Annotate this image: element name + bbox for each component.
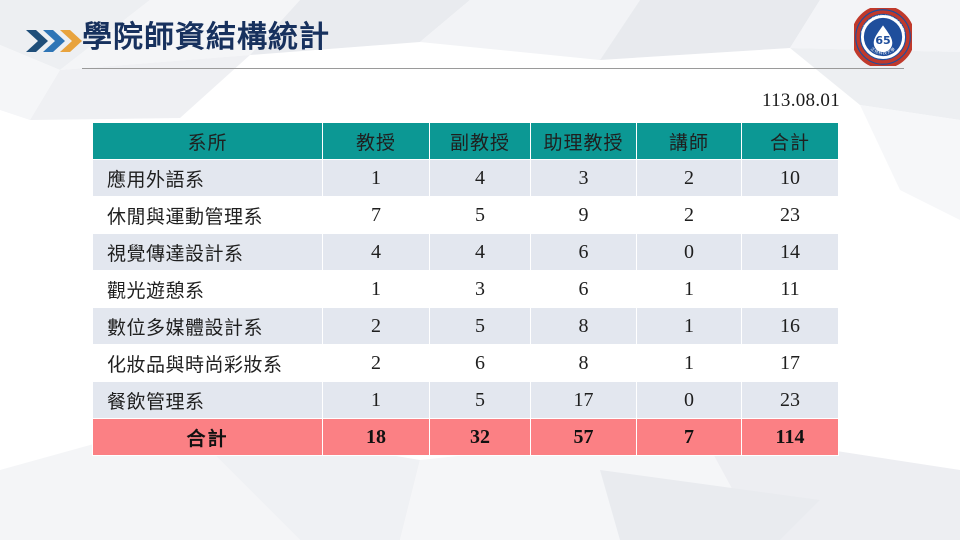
cell-lecturer: 2 (637, 197, 742, 234)
cell-professor: 2 (323, 308, 430, 345)
cell-professor: 1 (323, 382, 430, 419)
cell-total: 14 (742, 234, 839, 271)
cell-grand-total: 114 (742, 419, 839, 456)
column-header-professor: 教授 (323, 123, 430, 160)
cell-assoc-professor: 5 (430, 382, 531, 419)
cell-asst-professor: 9 (531, 197, 637, 234)
cell-total: 23 (742, 197, 839, 234)
faculty-structure-table: 系所 教授 副教授 助理教授 講師 合計 應用外語系 1 4 3 2 10 休閒… (92, 122, 839, 456)
cell-assoc-professor: 4 (430, 234, 531, 271)
cell-lecturer: 0 (637, 382, 742, 419)
cell-dept: 應用外語系 (93, 160, 323, 197)
cell-dept: 餐飲管理系 (93, 382, 323, 419)
cell-total: 23 (742, 382, 839, 419)
table-row: 化妝品與時尚彩妝系 2 6 8 1 17 (93, 345, 839, 382)
cell-total-asst: 57 (531, 419, 637, 456)
column-header-total: 合計 (742, 123, 839, 160)
table-header-row: 系所 教授 副教授 助理教授 講師 合計 (93, 123, 839, 160)
table-row: 應用外語系 1 4 3 2 10 (93, 160, 839, 197)
table-row: 休閒與運動管理系 7 5 9 2 23 (93, 197, 839, 234)
page-title: 學院師資結構統計 (82, 18, 330, 58)
cell-dept: 視覺傳達設計系 (93, 234, 323, 271)
table-row: 觀光遊憩系 1 3 6 1 11 (93, 271, 839, 308)
cell-assoc-professor: 5 (430, 308, 531, 345)
cell-dept: 休閒與運動管理系 (93, 197, 323, 234)
cell-dept: 觀光遊憩系 (93, 271, 323, 308)
triple-chevron-icon (26, 28, 82, 54)
cell-total-professor: 18 (323, 419, 430, 456)
cell-asst-professor: 3 (531, 160, 637, 197)
cell-dept: 化妝品與時尚彩妝系 (93, 345, 323, 382)
cell-assoc-professor: 6 (430, 345, 531, 382)
cell-asst-professor: 8 (531, 345, 637, 382)
cell-total-lecturer: 7 (637, 419, 742, 456)
table-total-row: 合計 18 32 57 7 114 (93, 419, 839, 456)
university-crest-logo: 65 CHENG SHIU UNIVERSITY 正修科技大學 (854, 8, 912, 66)
as-of-date: 113.08.01 (762, 90, 840, 112)
cell-lecturer: 2 (637, 160, 742, 197)
cell-assoc-professor: 4 (430, 160, 531, 197)
cell-professor: 4 (323, 234, 430, 271)
cell-lecturer: 1 (637, 345, 742, 382)
cell-asst-professor: 8 (531, 308, 637, 345)
cell-professor: 2 (323, 345, 430, 382)
faculty-structure-table-wrapper: 系所 教授 副教授 助理教授 講師 合計 應用外語系 1 4 3 2 10 休閒… (92, 122, 838, 456)
cell-asst-professor: 6 (531, 271, 637, 308)
cell-total-assoc: 32 (430, 419, 531, 456)
table-body: 應用外語系 1 4 3 2 10 休閒與運動管理系 7 5 9 2 23 視覺傳… (93, 160, 839, 456)
table-row: 餐飲管理系 1 5 17 0 23 (93, 382, 839, 419)
column-header-asst-professor: 助理教授 (531, 123, 637, 160)
cell-lecturer: 1 (637, 308, 742, 345)
cell-asst-professor: 17 (531, 382, 637, 419)
cell-assoc-professor: 5 (430, 197, 531, 234)
svg-text:65: 65 (875, 34, 890, 47)
cell-assoc-professor: 3 (430, 271, 531, 308)
column-header-dept: 系所 (93, 123, 323, 160)
slide-header: 學院師資結構統計 65 CHENG SHIU UNIVERSITY 正修科技大學 (0, 0, 960, 78)
cell-total-label: 合計 (93, 419, 323, 456)
cell-professor: 1 (323, 160, 430, 197)
cell-total: 10 (742, 160, 839, 197)
title-divider (82, 68, 904, 69)
cell-professor: 1 (323, 271, 430, 308)
cell-lecturer: 0 (637, 234, 742, 271)
column-header-assoc-professor: 副教授 (430, 123, 531, 160)
cell-dept: 數位多媒體設計系 (93, 308, 323, 345)
cell-asst-professor: 6 (531, 234, 637, 271)
column-header-lecturer: 講師 (637, 123, 742, 160)
cell-lecturer: 1 (637, 271, 742, 308)
table-row: 數位多媒體設計系 2 5 8 1 16 (93, 308, 839, 345)
cell-professor: 7 (323, 197, 430, 234)
table-row: 視覺傳達設計系 4 4 6 0 14 (93, 234, 839, 271)
cell-total: 17 (742, 345, 839, 382)
cell-total: 11 (742, 271, 839, 308)
cell-total: 16 (742, 308, 839, 345)
